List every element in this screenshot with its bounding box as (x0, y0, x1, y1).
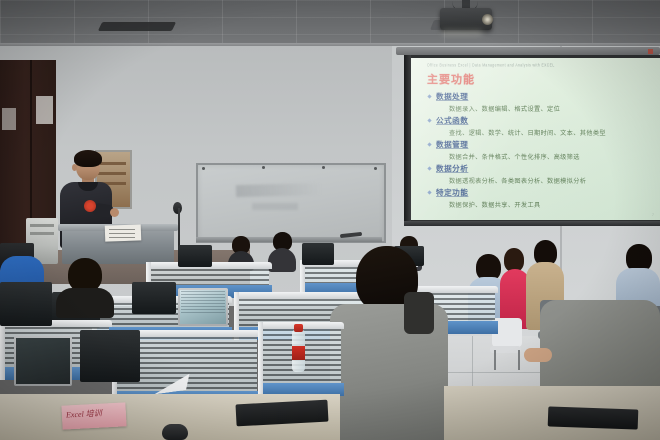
student-collar (404, 292, 434, 334)
bullet-detail: 数据录入、数据编辑、格式设置、定位 (427, 104, 657, 113)
slide-bullet-item: 数据管理 数据合并、条件格式、个性化排序、高级筛选 (427, 139, 657, 161)
screen-roller-housing (396, 47, 660, 55)
bullet-heading: 数据处理 (427, 91, 657, 102)
whiteboard-screw (374, 167, 377, 170)
notes-line (109, 233, 135, 234)
student-torso (268, 248, 296, 272)
lecture-room-photo: Office Business Excel | Data Management … (0, 0, 660, 440)
monitor-screen (16, 338, 70, 384)
monitor-content-lines (181, 291, 225, 314)
chair-leg (494, 350, 496, 370)
divider-post (258, 322, 263, 396)
shirt-logo-icon (84, 200, 96, 212)
bottle-cap (294, 324, 303, 332)
notes-line (109, 237, 135, 238)
monitor (132, 282, 176, 314)
student (268, 232, 296, 270)
keyboard (548, 406, 639, 429)
door-notice-paper (36, 96, 53, 124)
whiteboard-erased-marks (252, 203, 298, 210)
whiteboard-erased-marks (236, 183, 322, 197)
screen-roller-cap (648, 49, 653, 54)
monitor (14, 336, 72, 386)
student-hand (524, 348, 552, 362)
projector-lens-icon (482, 14, 493, 25)
whiteboard-screw (202, 167, 205, 170)
chair-leg (518, 350, 520, 370)
tower-drive-slot (30, 224, 54, 227)
monitor (80, 330, 140, 382)
notes-line (109, 229, 135, 230)
bullet-heading: 公式函数 (427, 115, 657, 126)
bullet-detail: 数据合并、条件格式、个性化排序、高级筛选 (427, 152, 657, 161)
bullet-heading: 数据分析 (427, 163, 657, 174)
bullet-heading: 数据管理 (427, 139, 657, 150)
student (56, 258, 114, 312)
instructor-hand (110, 208, 119, 217)
bullet-detail: 查找、逻辑、数学、统计、日期时间、文本、其他类型 (427, 128, 657, 137)
student-head (68, 258, 102, 292)
student-torso (56, 288, 114, 318)
bottle-label (292, 346, 305, 360)
whiteboard-screw (262, 166, 265, 169)
slide-bullet-item: 公式函数 查找、逻辑、数学、统计、日期时间、文本、其他类型 (427, 115, 657, 137)
tower-drive-slot (30, 232, 54, 235)
divider-post (300, 260, 305, 296)
instructor-hair (74, 150, 102, 167)
projected-slide: Office Business Excel | Data Management … (411, 58, 660, 220)
slide-page-number: 7 (652, 213, 654, 217)
slide-title: 主要功能 (427, 71, 475, 87)
slide-bullet-list: 数据处理 数据录入、数据编辑、格式设置、定位 公式函数 查找、逻辑、数学、统计、… (427, 91, 657, 211)
monitor (178, 288, 228, 326)
slide-bullet-item: 数据处理 数据录入、数据编辑、格式设置、定位 (427, 91, 657, 113)
bullet-detail: 数据透视表分析、各类图表分析、数据模拟分析 (427, 176, 657, 185)
whiteboard-screw (322, 166, 325, 169)
screen-bottom-bar (404, 221, 660, 226)
student-foreground (330, 246, 448, 440)
instructor-ear (72, 164, 77, 171)
projector-beam-glow (442, 30, 482, 35)
wall-notice-paper (2, 108, 16, 130)
ceiling-tile-grid (0, 0, 660, 46)
computer-mouse (162, 424, 188, 440)
bullet-heading: 特定功能 (427, 187, 657, 198)
screen-side-bar (404, 55, 411, 223)
bullet-detail: 数据保护、数据共享、开发工具 (427, 200, 657, 209)
slide-header-text: Office Business Excel | Data Management … (427, 63, 555, 68)
monitor (0, 282, 52, 326)
monitor (178, 245, 212, 267)
slide-bullet-item: 特定功能 数据保护、数据共享、开发工具 (427, 187, 657, 209)
slide-bullet-item: 数据分析 数据透视表分析、各类图表分析、数据模拟分析 (427, 163, 657, 185)
divider-post (0, 320, 5, 380)
ceiling-vent-icon (98, 22, 176, 31)
